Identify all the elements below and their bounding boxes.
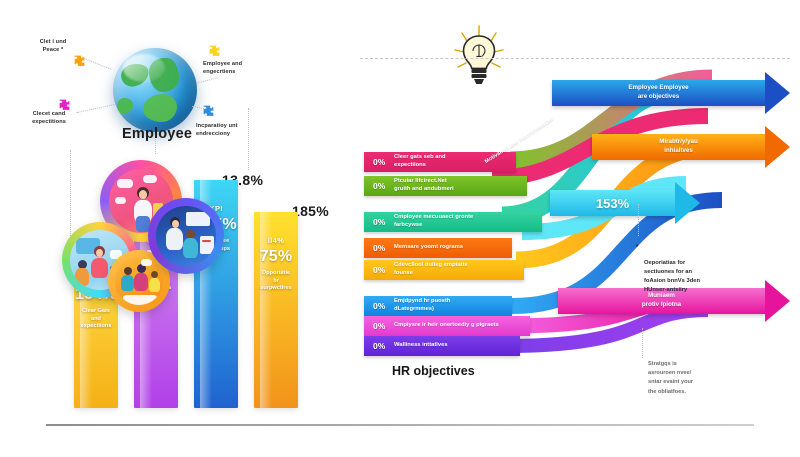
- ribbon-row-2: 0% Cmployee mecuuaect gronte farbcywse: [364, 212, 542, 232]
- arrow-label: Employee Employee are objectives: [624, 84, 692, 101]
- note-text: Oeporiatias for sectiuones for an foAsio…: [644, 260, 700, 294]
- ribbon-pct: 0%: [373, 157, 391, 167]
- arrow-label: Mirabtr/y/yau inhialtves: [655, 138, 702, 155]
- baseline-axis: [46, 424, 754, 426]
- bubble-illustration-office: [148, 198, 224, 274]
- ribbon-label: Walliness inttatlves: [394, 342, 448, 350]
- arrow-employee-objectives: Employee Employee are objectives: [552, 80, 790, 106]
- puzzle-piece-icon-yellow: [208, 44, 221, 57]
- dashed-guide-line: [360, 58, 790, 59]
- ribbon-row-4: 0% Cdevcllool duiieg emptatte founse: [364, 260, 524, 280]
- ribbon-row-7: 0% Walliness inttatlves: [364, 336, 520, 356]
- bullet-icon: •: [636, 241, 638, 252]
- page-title-employee: Employee: [122, 126, 192, 142]
- bar-value: 75%: [254, 248, 298, 266]
- globe-icon: [113, 48, 197, 132]
- ribbon-label: Cmpiysre ir heir onertoediy g pigraets: [394, 322, 499, 330]
- bar-kpi-label: ll4%: [254, 236, 298, 245]
- ribbon-row-1: 0% Ptcuiar lifcirect.Net gruith and andu…: [364, 176, 527, 196]
- ribbon-pct: 0%: [373, 243, 391, 253]
- ribbon-pct: 0%: [373, 301, 391, 311]
- ribbon-pct: 0%: [373, 265, 391, 275]
- left-panel-bar-chart: Clet i und Peace * Clecet cand expectiti…: [0, 0, 352, 440]
- ribbon-label: Memsare yoomt rograms: [394, 244, 463, 252]
- bar-sublabel: Opporuitie br surpwctlres: [254, 270, 298, 293]
- ribbon-pct: 0%: [373, 321, 391, 331]
- ribbon-pct: 0%: [373, 341, 391, 351]
- ribbon-row-3: 0% Memsare yoomt rograms: [364, 238, 512, 258]
- node-label-1: Clecet cand expectitions: [14, 110, 84, 126]
- ribbon-pct: 0%: [373, 181, 391, 191]
- page-title-hr-objectives: HR objectives: [392, 364, 475, 378]
- puzzle-piece-icon-orange: [73, 54, 86, 67]
- connector-line: [642, 328, 643, 358]
- ribbon-label: Cleer gats seb and expectiions: [394, 154, 446, 170]
- ribbon-pct: 0%: [373, 217, 391, 227]
- connector-line: [248, 108, 249, 170]
- bar-opportunities: ll4% 75% Opporuitie br surpwctlres: [254, 212, 298, 408]
- ribbon-label: Ptcuiar lifcirect.Net gruith and andubme…: [394, 178, 454, 194]
- arrow-value: 153%: [596, 196, 629, 211]
- node-label-0: Clet i und Peace *: [18, 38, 88, 54]
- node-label-2: Employee and engecrtiens: [203, 60, 275, 76]
- bar-sublabel: Clear Gats and expectiions: [74, 308, 118, 331]
- note-opportunities: • Oeporiatias for sectiuones for an foAs…: [644, 240, 728, 296]
- connector-line: [196, 77, 218, 83]
- note-strategies: Stratgqs is asrouroen nvee/ sntar evaint…: [648, 360, 728, 397]
- node-label-3: Incparatioy unt endrecciony: [196, 122, 270, 138]
- puzzle-piece-icon-blue: [202, 104, 215, 117]
- infographic-canvas: Clet i und Peace * Clecet cand expectiti…: [0, 0, 800, 457]
- ribbon-row-5: 0% Emjdpynd hr puosth dLategrmmes): [364, 296, 512, 316]
- right-panel-flow-diagram: 0% Cleer gats seb and expectiions 0% Ptc…: [352, 0, 800, 440]
- arrow-153-percent: 153%: [550, 190, 700, 216]
- arrow-initiatives: Mirabtr/y/yau inhialtves: [592, 134, 790, 160]
- ribbon-row-6: 0% Cmpiysre ir heir onertoediy g pigraet…: [364, 316, 530, 336]
- ribbon-label: Cmployee mecuuaect gronte farbcywse: [394, 214, 473, 230]
- ribbon-label: Cdevcllool duiieg emptatte founse: [394, 262, 468, 278]
- ribbon-label: Emjdpynd hr puosth dLategrmmes): [394, 298, 450, 314]
- connector-line: [638, 204, 639, 236]
